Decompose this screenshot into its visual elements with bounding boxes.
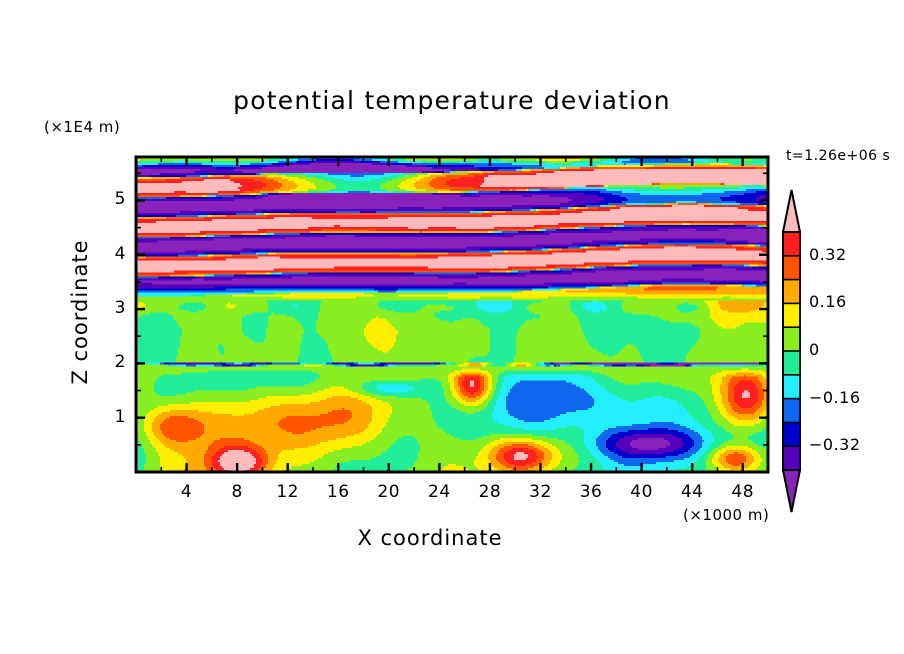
x-tick-label: 16 [324, 482, 352, 502]
x-tick-label: 36 [577, 482, 605, 502]
colorbar-tick-label: −0.32 [809, 435, 861, 454]
colorbar-tick-label: −0.16 [809, 388, 861, 407]
y-tick-label: 4 [102, 244, 126, 264]
x-tick-label: 12 [274, 482, 302, 502]
y-tick-label: 5 [102, 189, 126, 209]
y-tick-label: 2 [102, 352, 126, 372]
x-tick-label: 20 [375, 482, 403, 502]
colorbar [783, 190, 800, 512]
contour-field [136, 157, 769, 473]
colorbar-tick-label: 0.32 [809, 245, 847, 264]
x-tick-label: 8 [223, 482, 251, 502]
x-tick-label: 28 [476, 482, 504, 502]
colorbar-tick-label: 0.16 [809, 292, 847, 311]
x-tick-label: 4 [173, 482, 201, 502]
x-tick-label: 24 [425, 482, 453, 502]
x-tick-label: 48 [729, 482, 757, 502]
contour-plot [0, 0, 904, 654]
y-tick-label: 3 [102, 298, 126, 318]
colorbar-tick-label: 0 [809, 340, 820, 359]
x-tick-label: 40 [628, 482, 656, 502]
x-tick-label: 44 [678, 482, 706, 502]
y-tick-label: 1 [102, 407, 126, 427]
x-tick-label: 32 [526, 482, 554, 502]
